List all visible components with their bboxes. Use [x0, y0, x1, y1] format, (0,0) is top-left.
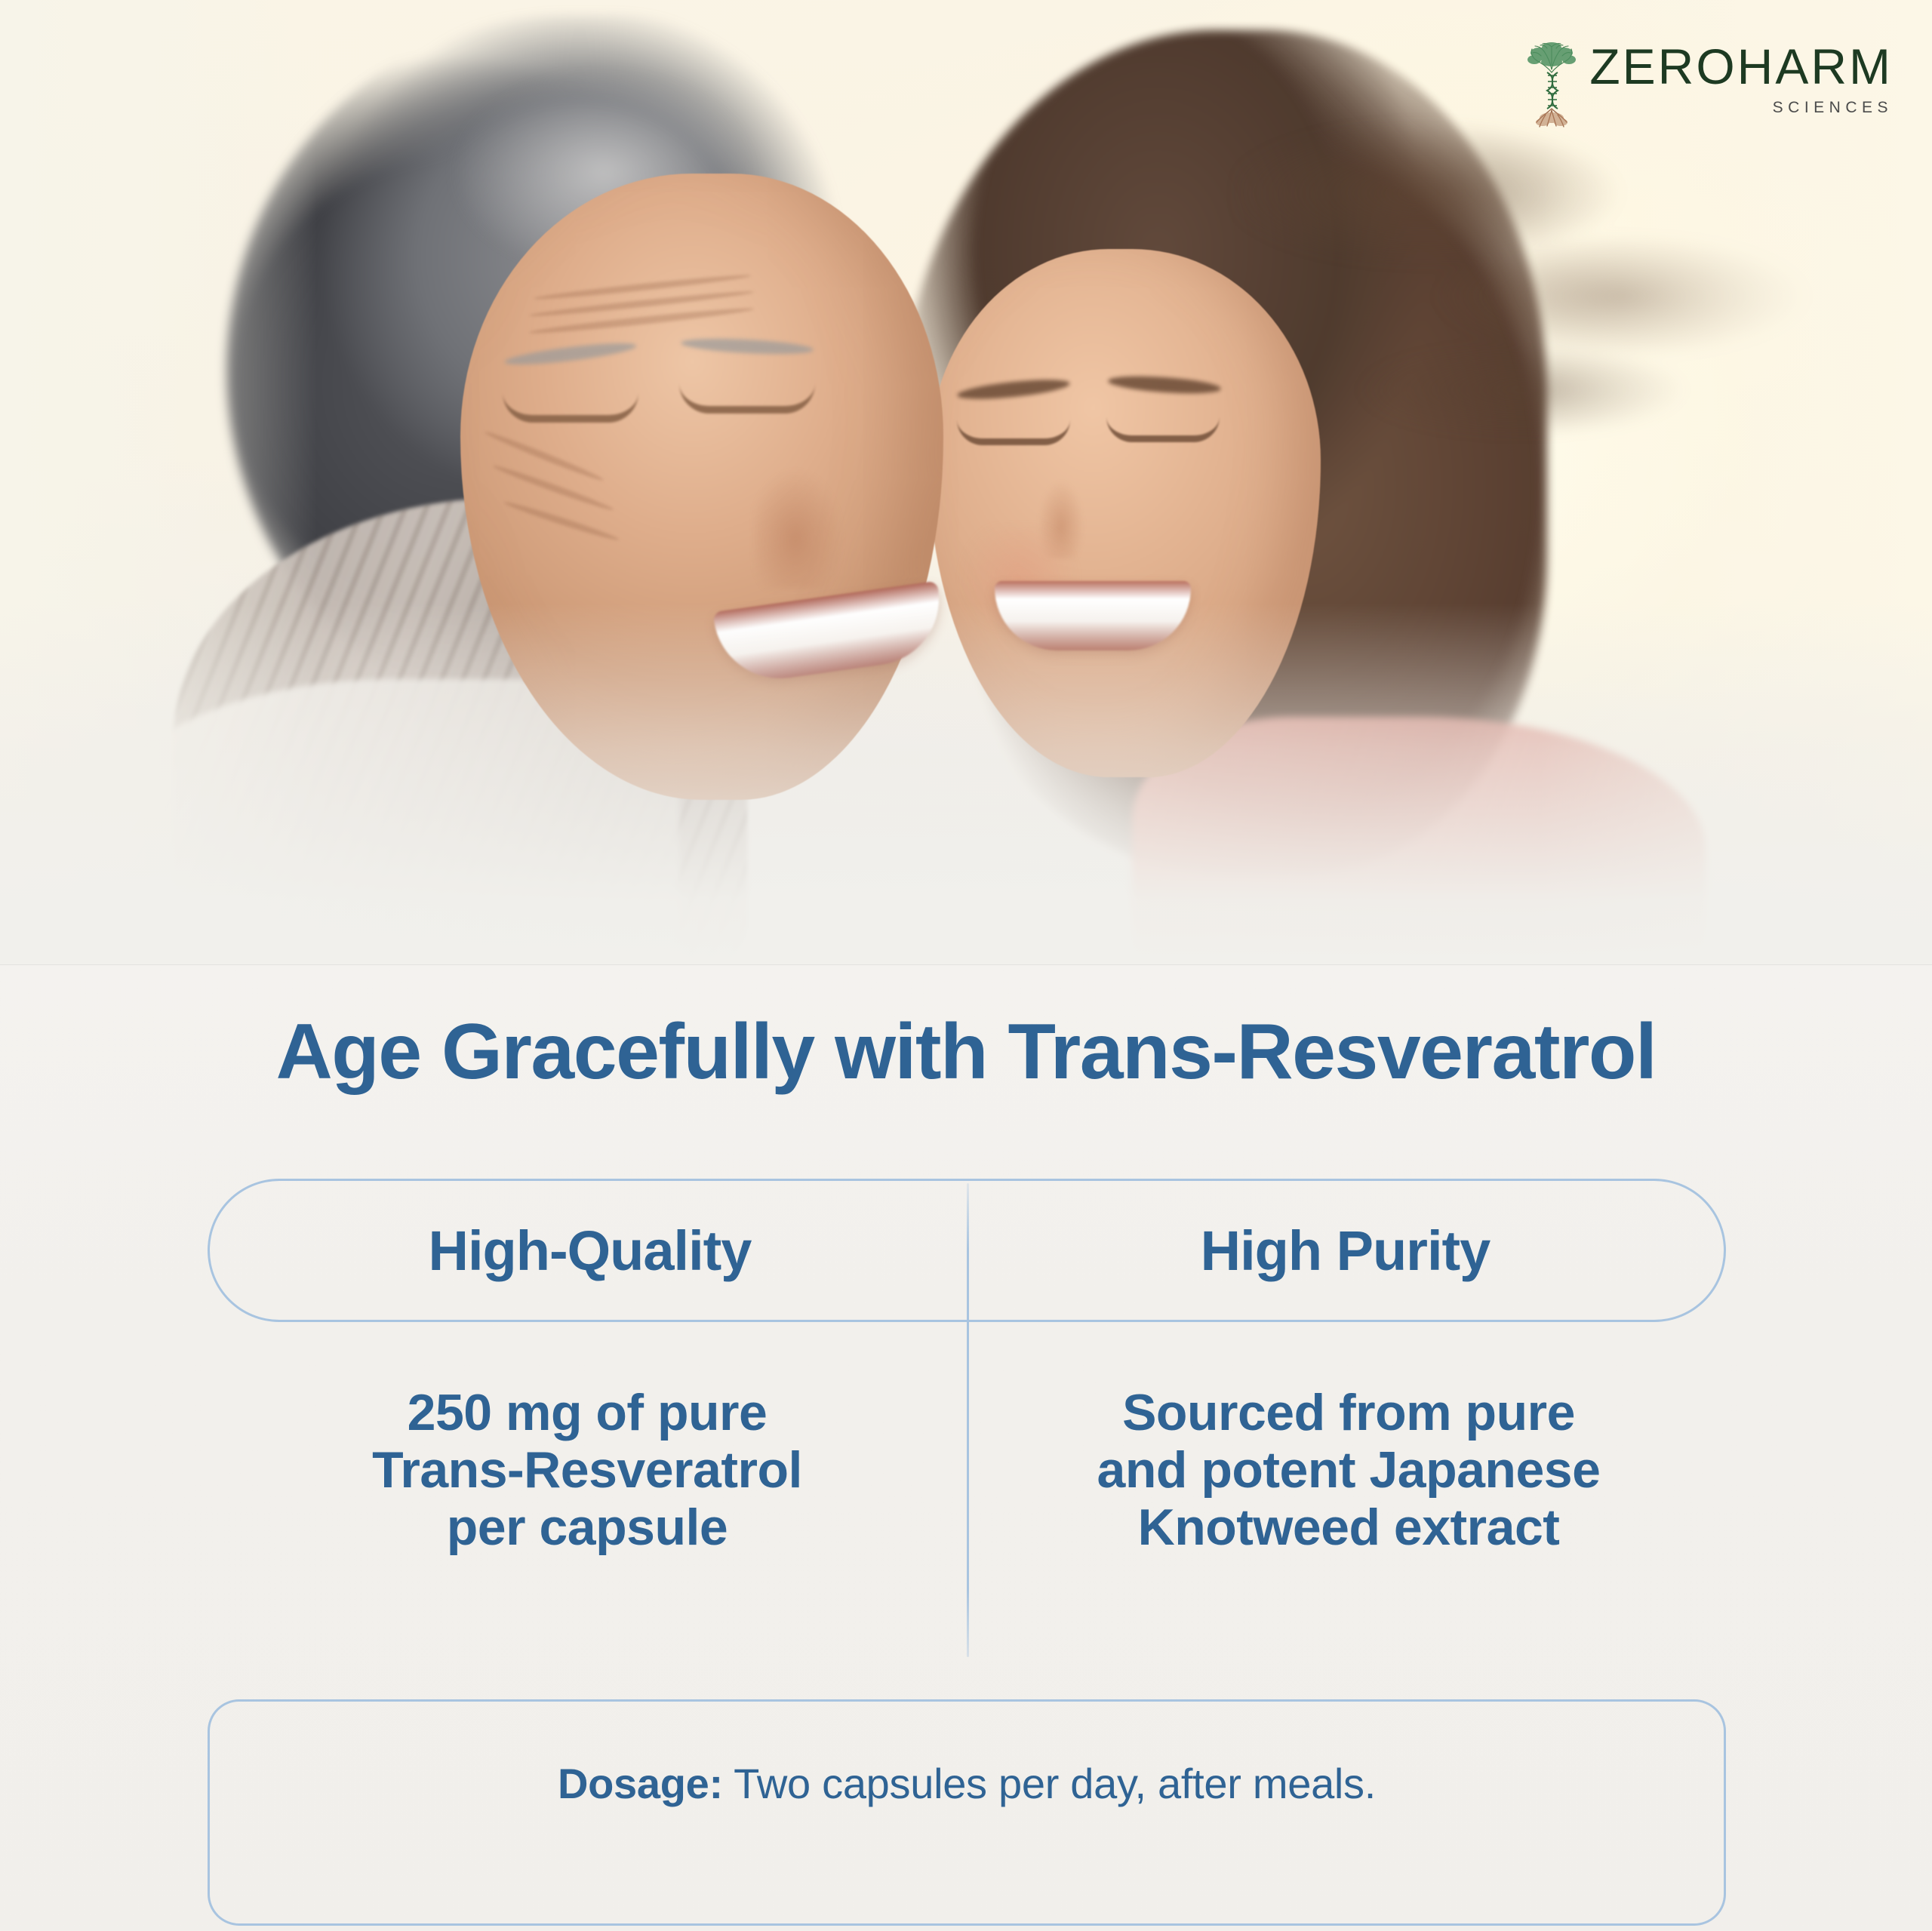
brand-logo[interactable]: ZEROHARM SCIENCES — [1524, 36, 1893, 128]
promo-poster: ZEROHARM SCIENCES Age Gracefully with Tr… — [0, 0, 1932, 1931]
feature-body-high-purity: Sourced from pure and potent Japanese Kn… — [969, 1384, 1728, 1556]
younger-woman-eye-left — [957, 420, 1070, 445]
dosage-value: Two capsules per day, after meals. — [723, 1760, 1376, 1807]
feature-pill-high-quality[interactable]: High-Quality — [208, 1179, 970, 1322]
feature-pill-label: High Purity — [1201, 1219, 1491, 1283]
brand-logo-text: ZEROHARM SCIENCES — [1589, 36, 1893, 117]
feature-pill-high-purity[interactable]: High Purity — [967, 1179, 1726, 1322]
younger-woman-top — [1132, 717, 1706, 966]
hero-photo — [0, 0, 1932, 966]
younger-woman-eye-right — [1106, 417, 1220, 442]
brand-name: ZEROHARM — [1589, 42, 1893, 91]
feature-columns: High-Quality High Purity 250 mg of pure … — [0, 1179, 1932, 1699]
dosage-box[interactable]: Dosage: Two capsules per day, after meal… — [208, 1699, 1726, 1926]
hero-illustration — [0, 0, 1932, 966]
feature-body-high-quality: 250 mg of pure Trans-Resveratrol per cap… — [208, 1384, 967, 1556]
dosage-label: Dosage: — [558, 1760, 723, 1807]
feature-pill-label: High-Quality — [429, 1219, 752, 1283]
older-woman-eye-right — [679, 383, 815, 414]
older-woman-eye-left — [503, 392, 638, 423]
brand-tagline: SCIENCES — [1773, 99, 1893, 117]
dosage-text: Dosage: Two capsules per day, after meal… — [558, 1759, 1376, 1808]
younger-woman-smile — [995, 581, 1191, 650]
older-woman-nose — [755, 423, 868, 589]
tree-dna-roots-icon — [1524, 36, 1579, 128]
page-title: Age Gracefully with Trans-Resveratrol — [0, 1007, 1932, 1097]
